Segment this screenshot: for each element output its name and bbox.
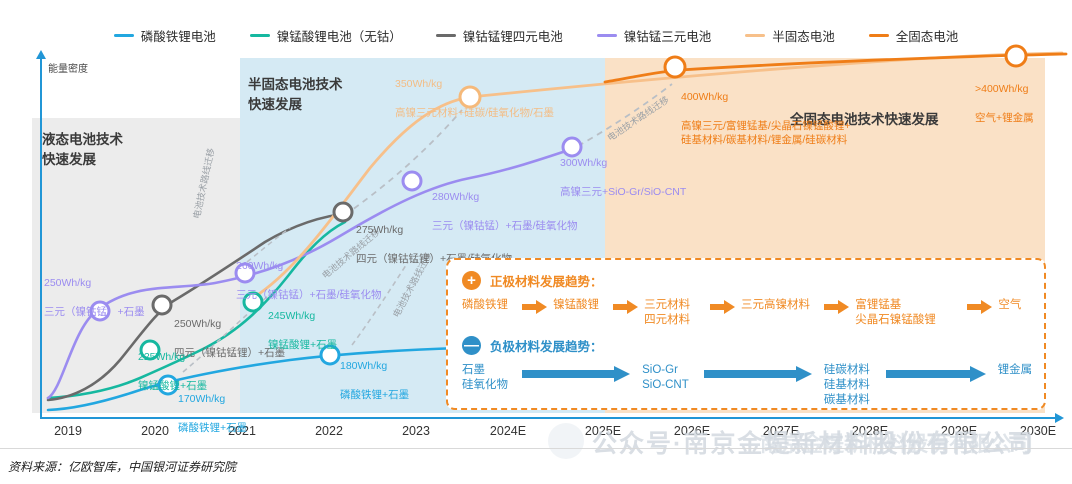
arrow-right-icon <box>824 300 849 314</box>
arrow-right-icon <box>522 300 547 314</box>
annotation-value: 400Wh/kg <box>681 90 850 104</box>
materials-trend-box: + 正极材料发展趋势： 磷酸铁锂 镍锰酸锂 三元材料 四元材料 三元高镍材料 富… <box>446 258 1046 410</box>
minus-icon: — <box>462 336 481 355</box>
annotation-value: >400Wh/kg <box>975 82 1034 96</box>
data-point-400[interactable] <box>665 57 685 77</box>
footer-divider <box>0 448 1072 449</box>
cathode-step-li-rich: 富锂锰基 尖晶石镍锰酸锂 <box>855 298 961 328</box>
data-point-280[interactable] <box>403 172 421 190</box>
anode-title: 负极材料发展趋势： <box>490 336 603 355</box>
annotation-material: 三元（镍钴锰）+石墨/硅氧化物 <box>432 219 578 233</box>
anode-step-li-metal: 锂金属 <box>998 363 1037 378</box>
annotation-material: 磷酸铁锂+石墨 <box>340 388 409 402</box>
annotation-400: 400Wh/kg 高镍三元/富锂锰基/尖晶石镍锰酸锂+ 硅基材料/碳基材料/锂金… <box>681 76 850 161</box>
cathode-header: + 正极材料发展趋势： <box>462 271 603 290</box>
source-note: 资料来源：亿欧智库，中国银河证券研究院 <box>8 458 236 475</box>
anode-step-si-c: 硅碳材料 硅基材料 碳基材料 <box>824 363 880 408</box>
cathode-step-lnmo: 镍锰酸锂 <box>553 298 607 313</box>
data-point-over-400[interactable] <box>1006 46 1026 66</box>
annotation-material: 三元（镍钴锰）+石墨 <box>44 305 145 319</box>
anode-step-sio: SiO-Gr SiO-CNT <box>642 363 698 393</box>
watermark-avatar <box>548 423 584 459</box>
annotation-material: 空气+锂金属 <box>975 111 1034 125</box>
cathode-step-air: 空气 <box>998 298 1037 313</box>
annotation-material: 镍锰酸锂+石墨 <box>268 338 337 352</box>
cathode-title: 正极材料发展趋势： <box>490 271 603 290</box>
annotation-170: 170Wh/kg 磷酸铁锂+石墨 <box>178 378 247 449</box>
annotation-material: 高镍三元材料+硅碳/硅氧化物/石墨 <box>395 106 554 120</box>
anode-flow: 石墨 硅氧化物 SiO-Gr SiO-CNT 硅碳材料 硅基材料 碳基材料 锂金… <box>462 363 1037 408</box>
data-point-275[interactable] <box>334 203 352 221</box>
anode-header: — 负极材料发展趋势： <box>462 336 603 355</box>
annotation-350: 350Wh/kg 高镍三元材料+硅碳/硅氧化物/石墨 <box>395 63 554 134</box>
annotation-value: 180Wh/kg <box>340 359 409 373</box>
arrow-right-icon <box>522 366 630 382</box>
annotation-material: 高镍三元+SiO-Gr/SiO-CNT <box>560 185 686 199</box>
annotation-material: 高镍三元/富锂锰基/尖晶石镍锰酸锂+ 硅基材料/碳基材料/锂金属/硅碳材料 <box>681 119 850 147</box>
annotation-180: 180Wh/kg 磷酸铁锂+石墨 <box>340 345 409 416</box>
arrow-right-icon <box>613 300 638 314</box>
annotation-280: 280Wh/kg 三元（镍钴锰）+石墨/硅氧化物 <box>432 176 578 247</box>
arrow-right-icon <box>886 366 986 382</box>
plus-icon: + <box>462 271 481 290</box>
annotation-value: 280Wh/kg <box>432 190 578 204</box>
cathode-step-ternary: 三元材料 四元材料 <box>644 298 704 328</box>
annotation-value: 170Wh/kg <box>178 392 247 406</box>
arrow-right-icon <box>967 300 992 314</box>
annotation-over-400: >400Wh/kg 空气+锂金属 <box>975 68 1034 139</box>
annotation-value: 300Wh/kg <box>560 156 686 170</box>
annotation-300: 300Wh/kg 高镍三元+SiO-Gr/SiO-CNT <box>560 142 686 213</box>
annotation-value: 350Wh/kg <box>395 77 554 91</box>
arrow-right-icon <box>704 366 812 382</box>
annotation-material: 磷酸铁锂+石墨 <box>178 421 247 435</box>
annotation-250-ncm: 250Wh/kg 三元（镍钴锰）+石墨 <box>44 262 145 333</box>
cathode-step-high-nickel: 三元高镍材料 <box>741 298 818 313</box>
data-point-250-ncma[interactable] <box>153 296 171 314</box>
anode-step-graphite: 石墨 硅氧化物 <box>462 363 516 393</box>
cathode-step-lfp: 磷酸铁锂 <box>462 298 516 313</box>
annotation-material: 三元（镍钴锰）+石墨/硅氧化物 <box>236 288 382 302</box>
cathode-flow: 磷酸铁锂 镍锰酸锂 三元材料 四元材料 三元高镍材料 富锂锰基 尖晶石镍锰酸锂 … <box>462 298 1037 328</box>
arrow-right-icon <box>710 300 735 314</box>
migration-dashed-4 <box>578 84 672 146</box>
annotation-value: 225Wh/kg <box>138 350 207 364</box>
chart-canvas: 磷酸铁锂电池 镍锰酸锂电池（无钴） 镍钴锰锂四元电池 镍钴锰三元电池 半固态电池… <box>0 0 1072 484</box>
watermark-text-secondary: 南京金堤新材料股份有限公司 <box>760 428 1033 458</box>
annotation-value: 250Wh/kg <box>44 276 145 290</box>
